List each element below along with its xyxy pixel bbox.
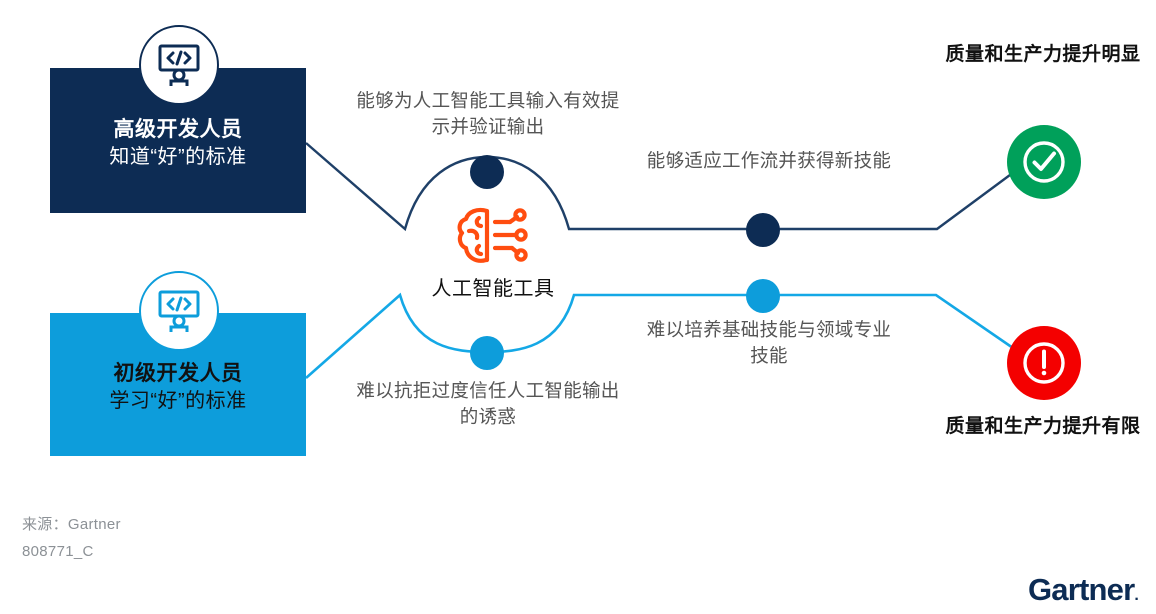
gartner-logo-text: Gartner (1028, 572, 1134, 607)
outcome-negative-label: 质量和生产力提升有限 (938, 414, 1148, 441)
caption-junior-overtrust: 难以抗拒过度信任人工智能输出的诱惑 (352, 378, 624, 431)
infographic-canvas: 高级开发人员 知道“好”的标准 初级开发人员 学习“好”的标准 (0, 0, 1156, 614)
caption-junior-skills: 难以培养基础技能与领域专业技能 (646, 317, 892, 370)
developer-monitor-icon-junior (139, 271, 219, 351)
document-code: 808771_C (22, 543, 94, 560)
persona-junior-title: 初级开发人员 (109, 360, 246, 388)
persona-senior-text: 高级开发人员 知道“好”的标准 (109, 116, 246, 170)
developer-monitor-icon (156, 289, 202, 333)
ai-brain-circuit-icon (455, 205, 531, 267)
caption-senior-workflow: 能够适应工作流并获得新技能 (646, 148, 892, 174)
outcome-positive-label: 质量和生产力提升明显 (938, 42, 1148, 69)
persona-senior-subtitle: 知道“好”的标准 (109, 144, 246, 170)
ai-brain-circuit-glyph (455, 205, 531, 267)
caption-senior-prompting: 能够为人工智能工具输入有效提示并验证输出 (352, 88, 624, 141)
persona-junior-text: 初级开发人员 学习“好”的标准 (109, 360, 246, 414)
node-senior-prompting[interactable] (470, 155, 504, 189)
gartner-logo-dot: . (1134, 587, 1138, 604)
node-junior-overtrust[interactable] (470, 336, 504, 370)
check-circle-glyph (1019, 137, 1069, 187)
check-circle-icon (1007, 125, 1081, 199)
node-senior-workflow[interactable] (746, 213, 780, 247)
ai-tools-label: 人工智能工具 (398, 272, 588, 301)
developer-monitor-icon (156, 43, 202, 87)
gartner-logo: Gartner. (1028, 572, 1138, 608)
persona-senior-title: 高级开发人员 (109, 116, 246, 144)
source-note: 来源：Gartner (22, 513, 121, 534)
exclamation-circle-icon (1007, 326, 1081, 400)
node-junior-skills[interactable] (746, 279, 780, 313)
exclamation-circle-glyph (1019, 338, 1069, 388)
developer-monitor-icon-senior (139, 25, 219, 105)
persona-junior-subtitle: 学习“好”的标准 (109, 388, 246, 414)
